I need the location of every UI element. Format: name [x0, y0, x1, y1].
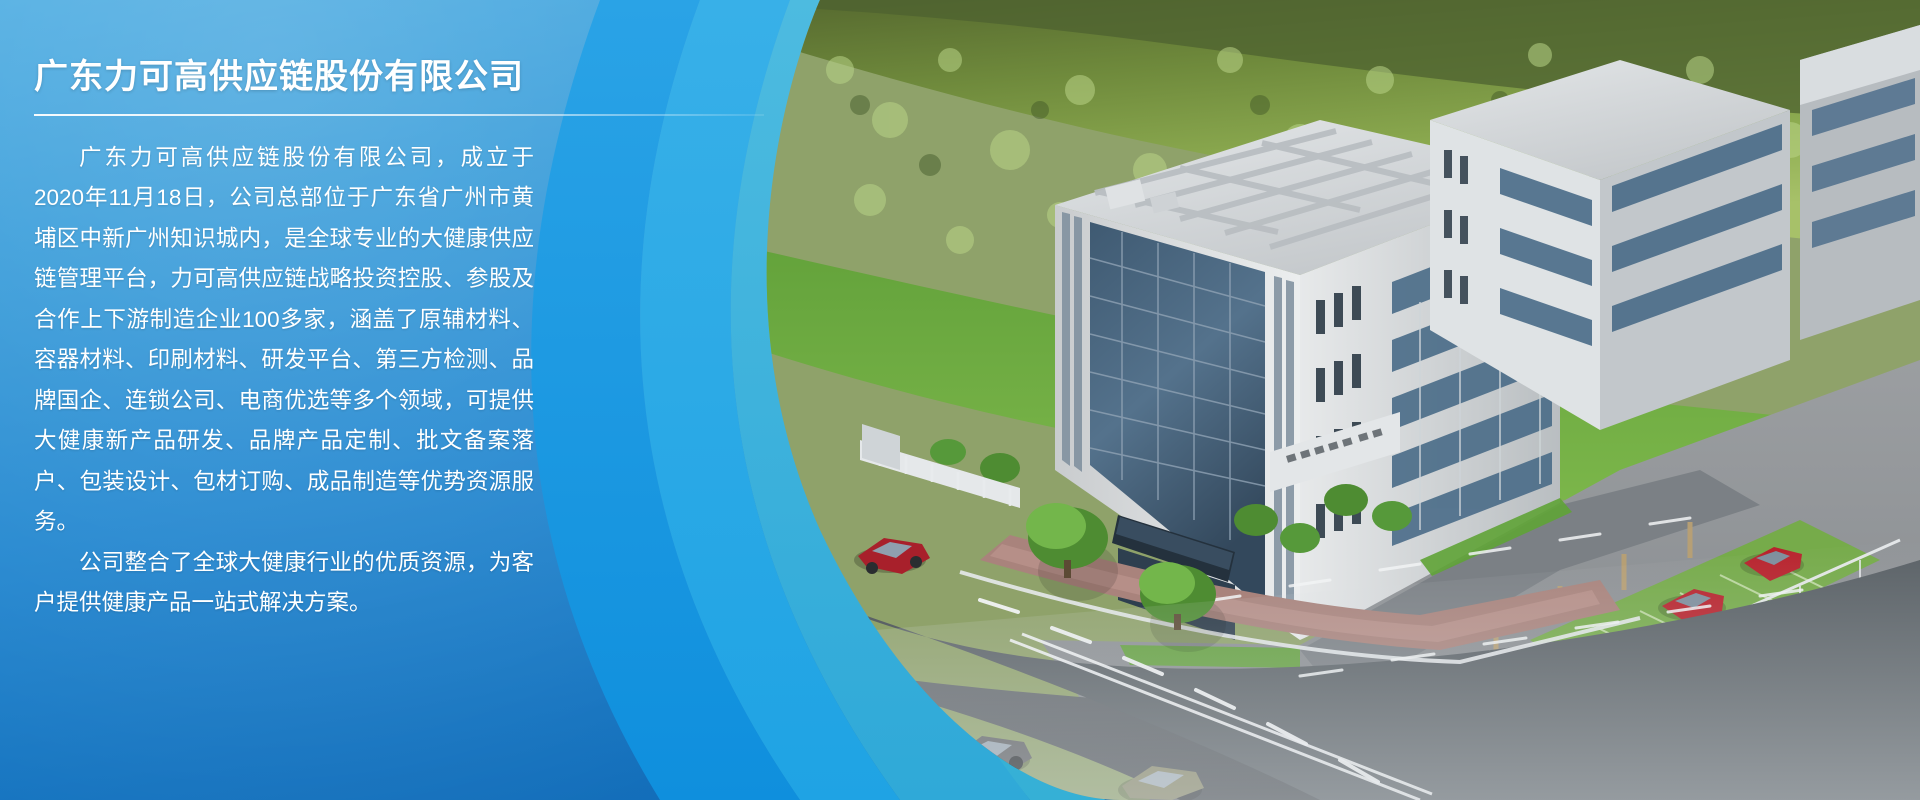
title-divider [34, 114, 764, 116]
paragraph-2: 公司整合了全球大健康行业的优质资源，为客户提供健康产品一站式解决方案。 [34, 543, 534, 624]
paragraph-1: 广东力可高供应链股份有限公司，成立于2020年11月18日，公司总部位于广东省广… [34, 138, 534, 543]
company-profile-banner: 广东力可高供应链股份有限公司 广东力可高供应链股份有限公司，成立于2020年11… [0, 0, 1920, 800]
page-title: 广东力可高供应链股份有限公司 [34, 56, 538, 99]
company-description: 广东力可高供应链股份有限公司，成立于2020年11月18日，公司总部位于广东省广… [34, 138, 534, 624]
text-column: 广东力可高供应链股份有限公司 广东力可高供应链股份有限公司，成立于2020年11… [0, 0, 560, 800]
